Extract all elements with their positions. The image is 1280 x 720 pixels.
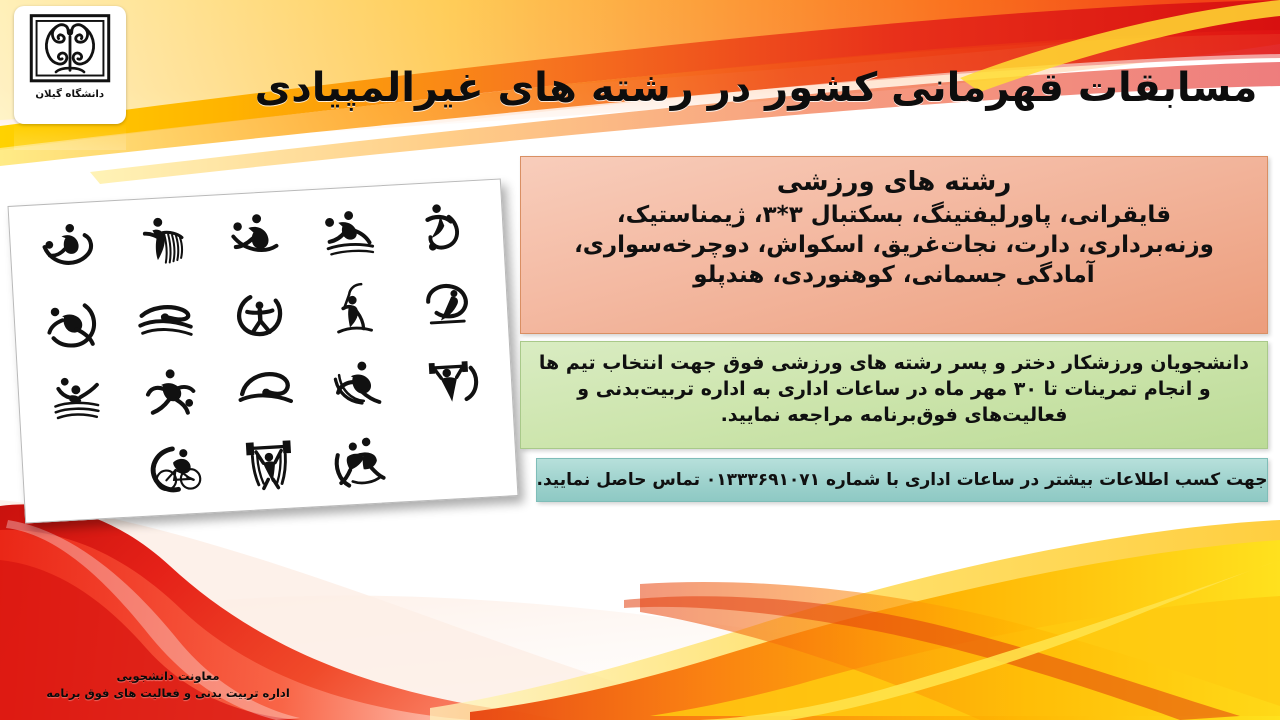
weightlifting-snatch-icon	[419, 346, 488, 412]
logo-caption: دانشگاه گیلان	[36, 89, 105, 100]
contact-info-box: جهت کسب اطلاعات بیشتر در ساعات اداری با …	[536, 458, 1268, 502]
cycling-icon	[140, 437, 209, 503]
pictogram-cell	[302, 191, 401, 272]
pictogram-cell	[220, 424, 318, 505]
footer-line-2: اداره تربیت بدنی و فعالیت های فوق برنامه	[28, 685, 308, 702]
pictogram-cell	[122, 354, 221, 435]
archery-fan-icon	[128, 210, 197, 276]
handball-icon	[316, 199, 385, 265]
volleyball-spike-icon	[222, 204, 291, 270]
backstroke-icon	[230, 356, 299, 422]
sports-box-heading: رشته های ورزشی	[535, 166, 1253, 200]
pictogram-cell	[314, 419, 413, 500]
swimming-icon	[132, 286, 201, 352]
shotput-icon	[325, 351, 394, 417]
pictogram-cell	[404, 338, 502, 419]
logo-reflection	[14, 124, 126, 150]
pictogram-cell	[32, 435, 131, 516]
running-icon	[136, 361, 205, 427]
notice-line-2: و انجام تمرینات تا ۳۰ مهر ماه در ساعات ا…	[537, 376, 1251, 402]
footer-credits: معاونت دانشجویی اداره تربیت بدنی و فعالی…	[28, 668, 308, 701]
logo-card: دانشگاه گیلان	[14, 6, 126, 124]
soccer-icon	[410, 194, 479, 260]
pictogram-cell	[117, 278, 216, 359]
waterpolo-icon	[42, 367, 111, 433]
pictogram-cell	[113, 202, 212, 283]
sports-box-line-3: آمادگی جسمانی، کوهنوردی، هندپلو	[535, 261, 1253, 291]
sports-pictogram-card	[8, 178, 519, 523]
pictogram-cell	[306, 267, 405, 348]
page-title: مسابقات قهرمانی کشور در رشته های غیرالمپ…	[246, 66, 1266, 111]
contact-line: جهت کسب اطلاعات بیشتر در ساعات اداری با …	[537, 470, 1268, 490]
wrestling-throw-icon	[33, 215, 102, 281]
sprint-start-icon	[38, 291, 107, 357]
pictogram-cell	[396, 186, 494, 267]
sports-box-line-2: وزنه‌برداری، دارت، نجات‌غریق، اسکواش، دو…	[535, 231, 1253, 261]
pictogram-cell	[23, 283, 122, 364]
pictogram-cell	[126, 430, 225, 511]
notice-line-3: فعالیت‌های فوق‌برنامه مراجعه نمایید.	[537, 402, 1251, 428]
pictogram-cell	[400, 262, 498, 343]
judo-icon	[329, 427, 398, 493]
pictogram-cell	[310, 343, 409, 424]
pictogram-cell	[27, 359, 126, 440]
sports-disciplines-box: رشته های ورزشی قایقرانی، پاورلیفتینگ، بس…	[520, 156, 1268, 334]
pictogram-cell	[19, 207, 118, 288]
powerlifting-icon	[235, 432, 304, 498]
pictogram-cell	[207, 197, 305, 278]
registration-notice-box: دانشجویان ورزشکار دختر و پسر رشته های ور…	[520, 341, 1268, 449]
university-logo: دانشگاه گیلان	[14, 6, 126, 124]
sports-box-line-1: قایقرانی، پاورلیفتینگ، بسکتبال ۳*۳، ژیمن…	[535, 201, 1253, 231]
gymnastics-rings-icon	[226, 280, 295, 346]
gymnastics-icon	[415, 270, 484, 336]
notice-line-1: دانشجویان ورزشکار دختر و پسر رشته های ور…	[537, 350, 1251, 376]
gilan-swan-emblem-icon	[26, 12, 114, 88]
golf-icon	[320, 275, 389, 341]
pictogram-cell	[409, 414, 507, 495]
poster-canvas: دانشگاه گیلان مسابقات قهرمانی کشور در رش…	[0, 0, 1280, 720]
pictogram-cell	[216, 348, 314, 429]
footer-line-1: معاونت دانشجویی	[28, 668, 308, 685]
pictogram-cell	[212, 272, 310, 353]
